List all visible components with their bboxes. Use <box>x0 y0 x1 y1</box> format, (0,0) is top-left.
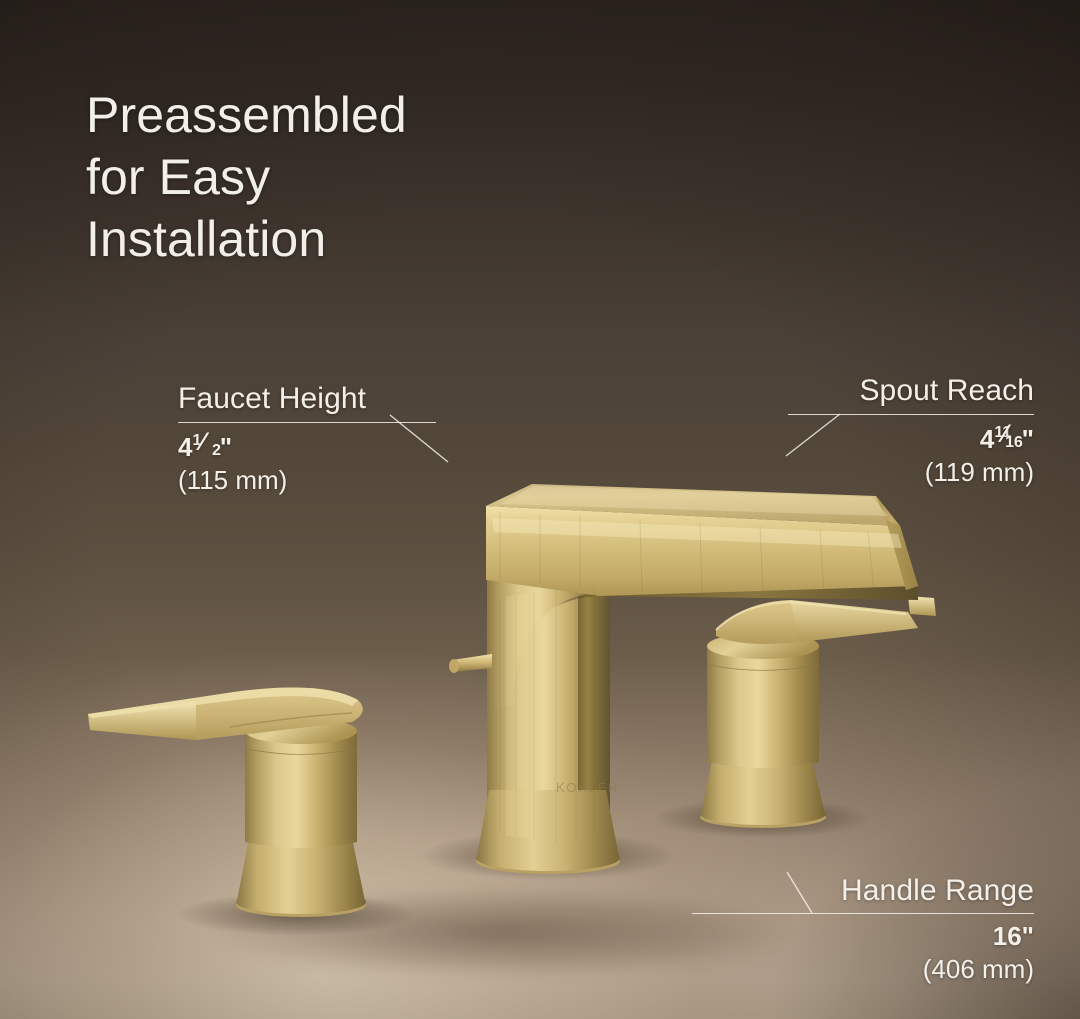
imperial-unit: " <box>1022 424 1034 454</box>
fraction-denominator: 2 <box>212 435 221 465</box>
imperial-whole: 16 <box>993 921 1022 951</box>
imperial-fraction: 11⁄16 <box>994 422 1021 448</box>
callout-rule <box>692 913 1034 914</box>
headline: Preassembled for Easy Installation <box>86 84 407 270</box>
imperial-unit: " <box>220 432 232 462</box>
imperial-whole: 4 <box>980 424 994 454</box>
fraction-denominator: 16 <box>1005 427 1023 457</box>
left-handle <box>88 688 366 918</box>
leader-line-spout-reach <box>784 414 854 469</box>
leader-line-handle-range <box>784 870 824 916</box>
kohler-engraving: KOHLER <box>556 780 619 795</box>
callout-metric-value: (406 mm) <box>692 953 1034 985</box>
product-spec-infographic: KOHLER Preassembled for Easy Installatio… <box>0 0 1080 1019</box>
callout-title: Handle Range <box>692 874 1034 908</box>
callout-title: Faucet Height <box>178 382 436 416</box>
right-handle <box>700 596 936 828</box>
leader-line-faucet-height <box>390 415 460 475</box>
callout-imperial-value: 16" <box>692 921 1034 951</box>
imperial-fraction: 1⁄2 <box>192 430 219 456</box>
imperial-unit: " <box>1022 921 1034 951</box>
callout-handle-range: Handle Range 16" (406 mm) <box>692 874 1034 985</box>
fraction-slash: ⁄ <box>201 428 205 458</box>
imperial-whole: 4 <box>178 432 192 462</box>
callout-title: Spout Reach <box>788 374 1034 408</box>
